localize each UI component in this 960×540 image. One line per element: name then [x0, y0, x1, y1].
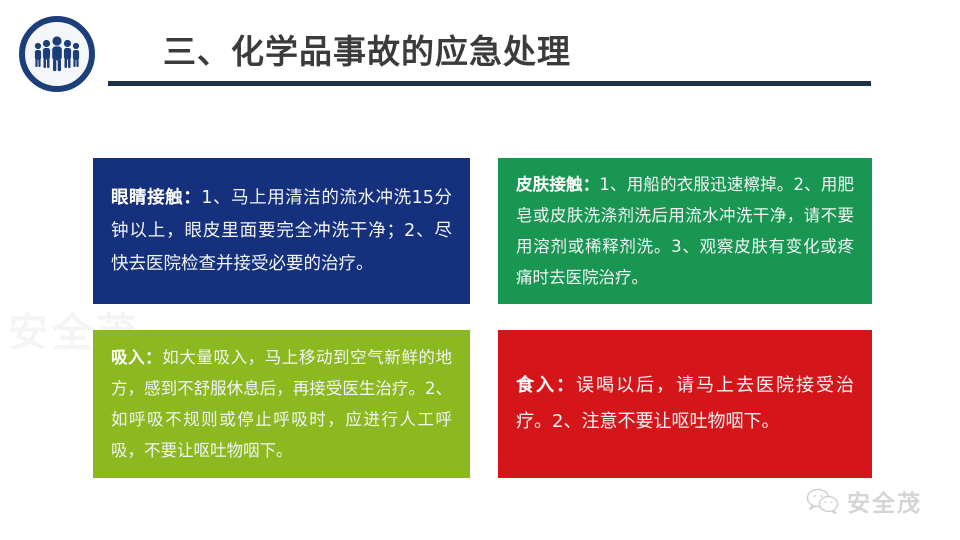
card-eye-contact-text: 眼睛接触：1、马上用清洁的流水冲洗15分钟以上，眼皮里面要完全冲洗干净；2、尽快… [111, 182, 452, 281]
card-skin-contact-text: 皮肤接触：1、用船的衣服迅速檫掉。2、用肥皂或皮肤洗涤剂洗后用流水冲洗干净，请不… [516, 169, 854, 293]
slide-canvas: 三、化学品事故的应急处理 安全茂 眼睛接触：1、马上用清洁的流水冲洗15分钟以上… [0, 0, 960, 540]
card-eye-contact-label: 眼睛接触： [111, 188, 201, 208]
card-inhalation-text: 吸入：如大量吸入，马上移动到空气新鲜的地方，感到不舒服休息后，再接受医生治疗。2… [111, 342, 452, 466]
card-ingestion: 食入：误喝以后，请马上去医院接受治疗。2、注意不要让呕吐物咽下。 [498, 330, 872, 478]
wechat-watermark: 安全茂 [806, 484, 922, 518]
card-inhalation-label: 吸入： [111, 348, 162, 367]
card-eye-contact: 眼睛接触：1、马上用清洁的流水冲洗15分钟以上，眼皮里面要完全冲洗干净；2、尽快… [93, 158, 470, 304]
card-skin-contact-label: 皮肤接触： [516, 175, 599, 194]
header-divider [108, 81, 871, 86]
card-ingestion-label: 食入： [516, 375, 576, 396]
wechat-watermark-label: 安全茂 [847, 484, 922, 518]
card-ingestion-text: 食入：误喝以后，请马上去医院接受治疗。2、注意不要让呕吐物咽下。 [516, 368, 854, 440]
slide-header: 三、化学品事故的应急处理 [0, 0, 960, 110]
card-inhalation: 吸入：如大量吸入，马上移动到空气新鲜的地方，感到不舒服休息后，再接受医生治疗。2… [93, 330, 470, 478]
page-title: 三、化学品事故的应急处理 [163, 30, 571, 74]
card-skin-contact: 皮肤接触：1、用船的衣服迅速檫掉。2、用肥皂或皮肤洗涤剂洗后用流水冲洗干净，请不… [498, 158, 872, 304]
card-inhalation-body: 如大量吸入，马上移动到空气新鲜的地方，感到不舒服休息后，再接受医生治疗。2、如呼… [111, 348, 452, 460]
wechat-icon [806, 488, 840, 515]
group-of-people-icon [19, 16, 95, 92]
